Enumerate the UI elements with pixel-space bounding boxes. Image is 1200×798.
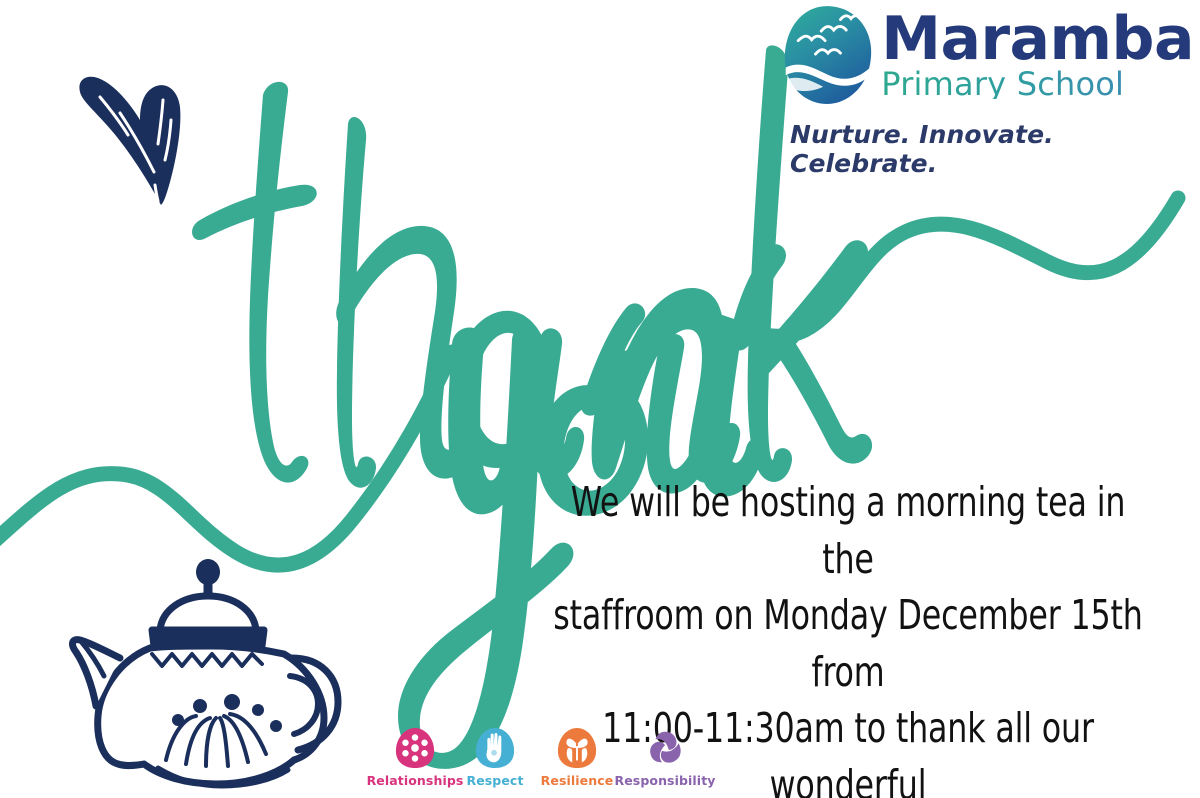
school-values-strip: Relationships Respect Resilie [383, 726, 665, 788]
message-line-1: We will be hosting a morning tea in the [553, 474, 1143, 587]
message-line-2: staffroom on Monday December 15th from [553, 587, 1143, 700]
school-tagline: Nurture. Innovate. Celebrate. [790, 120, 1190, 178]
responsibility-swirl-icon [644, 726, 686, 770]
school-name: Maramba [881, 11, 1194, 67]
value-label-respect: Respect [466, 773, 523, 788]
script-thank [192, 45, 872, 487]
logo-row: Maramba Primary School [779, 2, 1194, 108]
value-label-relationships: Relationships [367, 773, 464, 788]
resilience-sprout-icon [556, 726, 598, 770]
logo-wordmark: Maramba Primary School [881, 11, 1194, 99]
maramba-logo-mark-icon [779, 4, 875, 108]
relationships-icon [394, 726, 436, 770]
respect-hand-icon [474, 726, 516, 770]
thank-you-poster: Maramba Primary School Nurture. Innovate… [0, 0, 1200, 798]
school-logo: Maramba Primary School Nurture. Innovate… [790, 2, 1194, 178]
value-label-responsibility: Responsibility [614, 773, 715, 788]
value-label-resilience: Resilience [541, 773, 614, 788]
school-type: Primary School [881, 69, 1194, 99]
